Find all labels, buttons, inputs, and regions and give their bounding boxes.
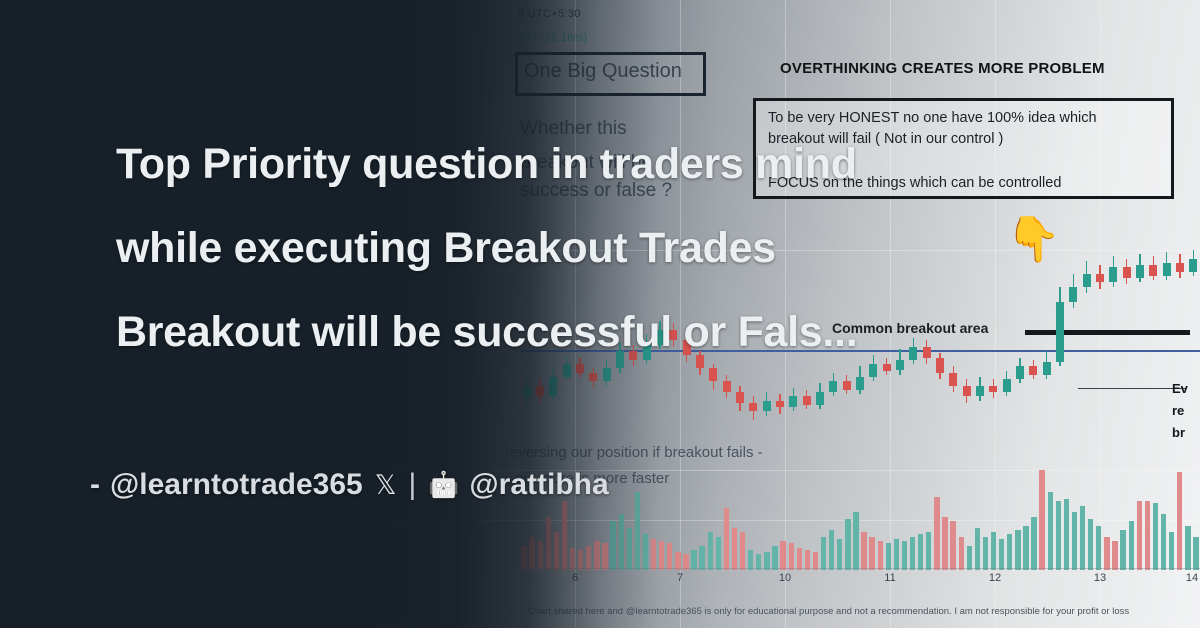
attribution-line: - @learntotrade365 𝕏 | 🤖 @rattibha: [90, 468, 609, 502]
author-handle[interactable]: @learntotrade365: [110, 468, 363, 502]
headline-line-2: while executing Breakout Trades: [116, 224, 776, 273]
headline-line-1: Top Priority question in traders mind: [116, 140, 857, 189]
robot-icon: 🤖: [428, 471, 459, 500]
foreground-content: Top Priority question in traders mind wh…: [0, 0, 1200, 628]
x-logo-icon: 𝕏: [375, 470, 397, 501]
rattibha-handle[interactable]: @rattibha: [469, 468, 608, 502]
pointing-down-icon: 👇: [1006, 218, 1061, 262]
attribution-separator: |: [408, 468, 416, 502]
attribution-dash: -: [90, 468, 100, 502]
headline-line-3: Breakout will be successful or Fals...: [116, 308, 857, 357]
social-share-card: 9 UTC+5:30 163 (15.16%) One Big Question…: [0, 0, 1200, 628]
